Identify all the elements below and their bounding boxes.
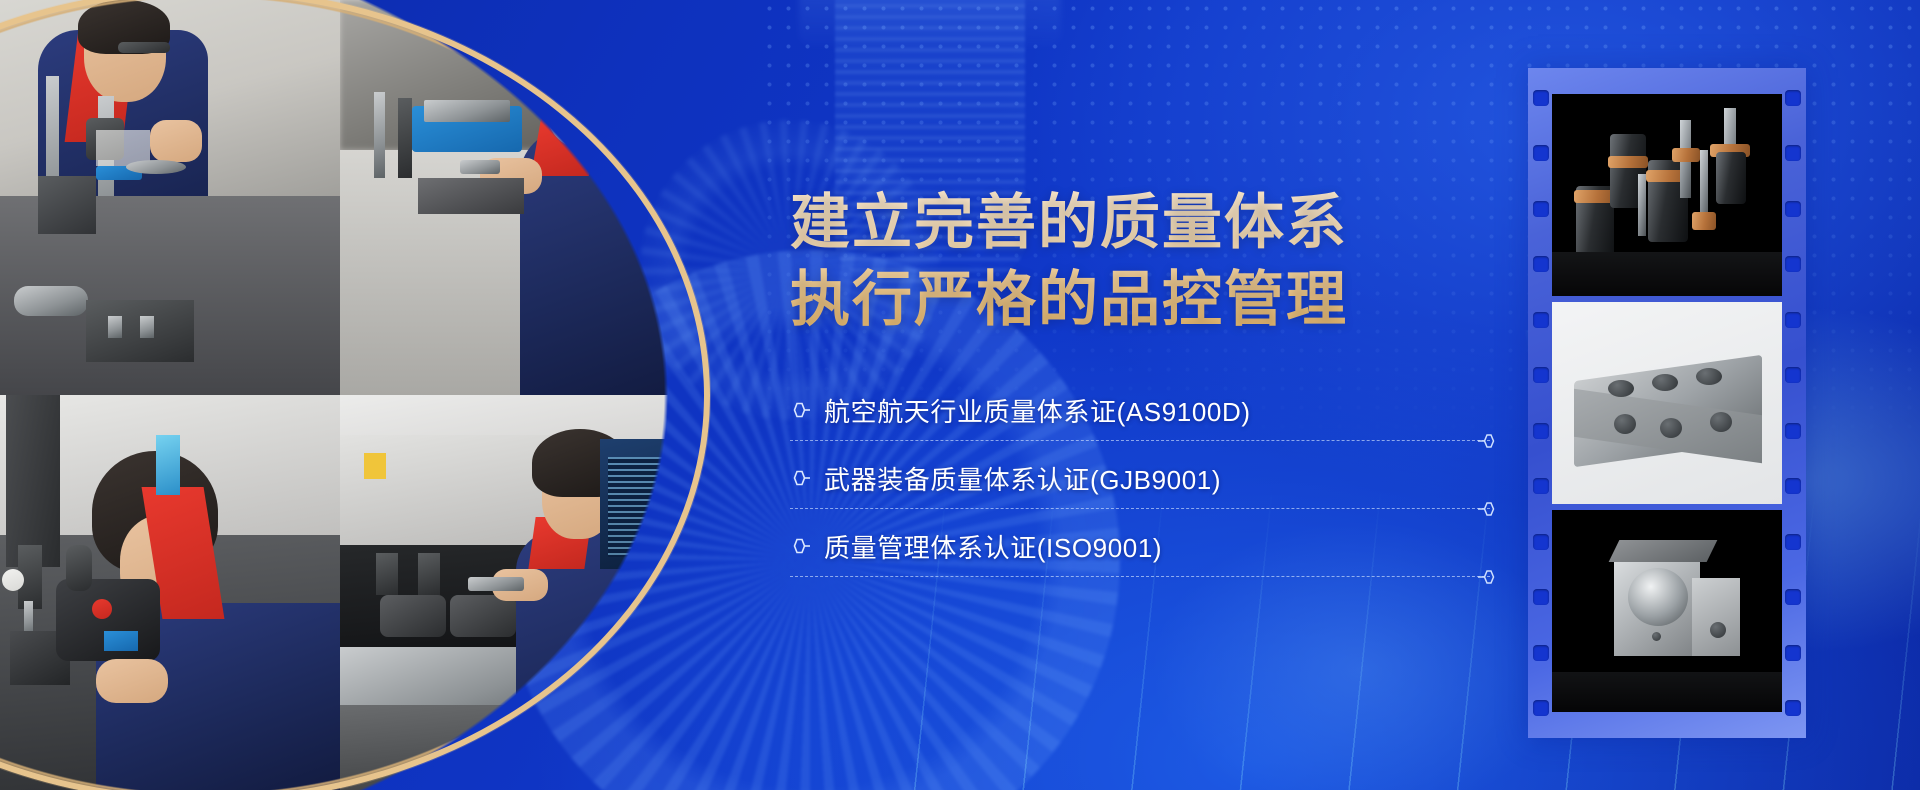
filmstrip-perforations-right bbox=[1785, 90, 1801, 716]
page-title: 建立完善的质量体系 执行严格的品控管理 bbox=[790, 185, 1490, 339]
quality-system-banner: 建立完善的质量体系 执行严格的品控管理 航空航天行业质量体系证(AS9100D) bbox=[0, 0, 1920, 790]
filmstrip-perforations-left bbox=[1533, 90, 1549, 716]
quality-inspection-photo-3 bbox=[0, 395, 340, 790]
certification-item-1: 航空航天行业质量体系证(AS9100D) bbox=[790, 381, 1490, 441]
certification-item-2: 武器装备质量体系认证(GJB9001) bbox=[790, 449, 1490, 509]
headline-block: 建立完善的质量体系 执行严格的品控管理 航空航天行业质量体系证(AS9100D) bbox=[790, 185, 1490, 577]
hexagon-bullet-icon bbox=[790, 402, 810, 418]
quality-inspection-photo-2 bbox=[340, 0, 680, 395]
quality-inspection-photo-4 bbox=[340, 395, 680, 790]
headline-line-2: 执行严格的品控管理 bbox=[790, 262, 1490, 339]
hexagon-end-icon bbox=[1478, 433, 1496, 449]
product-photo-bearing-block bbox=[1552, 510, 1782, 712]
headline-line-1: 建立完善的质量体系 bbox=[790, 189, 1348, 256]
certification-list: 航空航天行业质量体系证(AS9100D) 武器装备质量体系认证(GJB9001) bbox=[790, 381, 1490, 577]
product-filmstrip bbox=[1528, 68, 1806, 738]
certification-label: 航空航天行业质量体系证(AS9100D) bbox=[824, 392, 1251, 429]
hexagon-end-icon bbox=[1478, 569, 1496, 585]
certification-label: 质量管理体系认证(ISO9001) bbox=[824, 528, 1162, 565]
left-photo-collage bbox=[0, 0, 680, 790]
hexagon-bullet-icon bbox=[790, 538, 810, 554]
product-photo-machined-housing bbox=[1552, 302, 1782, 504]
hexagon-end-icon bbox=[1478, 501, 1496, 517]
product-photo-precision-bushings bbox=[1552, 94, 1782, 296]
certification-item-3: 质量管理体系认证(ISO9001) bbox=[790, 517, 1490, 577]
hexagon-bullet-icon bbox=[790, 470, 810, 486]
certification-label: 武器装备质量体系认证(GJB9001) bbox=[824, 460, 1221, 497]
quality-inspection-photo-1 bbox=[0, 0, 340, 395]
